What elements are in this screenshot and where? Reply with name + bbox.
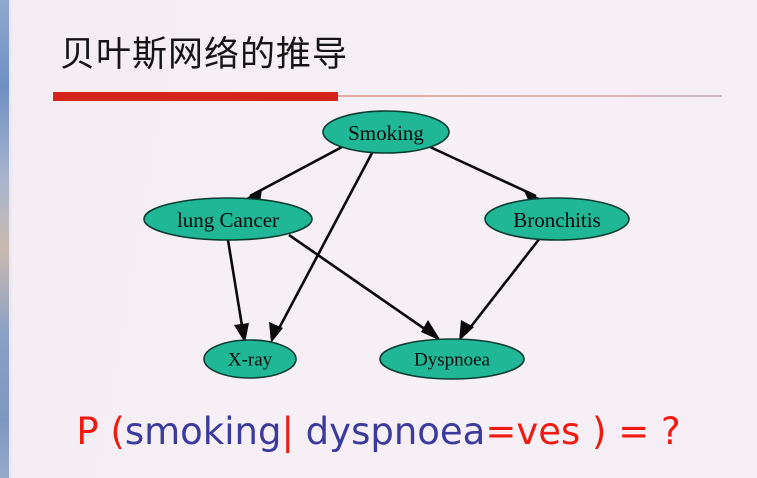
edge-smoking-to-lung-cancer <box>243 147 342 203</box>
query-formula: P (smoking| dyspnoea=ves ) = ? <box>0 406 757 458</box>
formula-evidence-var: dyspnoea <box>294 410 485 453</box>
node-lung-cancer-label: lung Cancer <box>177 208 279 232</box>
node-bronchitis[interactable]: Bronchitis <box>485 198 629 240</box>
edge-lung-cancer-to-dyspnoea <box>289 235 441 341</box>
node-smoking[interactable]: Smoking <box>323 111 449 153</box>
node-xray-label: X-ray <box>228 350 273 371</box>
node-xray[interactable]: X-ray <box>204 340 296 378</box>
node-dyspnoea-label: Dyspnoea <box>414 350 491 371</box>
formula-query-var: smoking <box>125 410 282 453</box>
node-lung-cancer[interactable]: lung Cancer <box>144 198 312 240</box>
node-bronchitis-label: Bronchitis <box>513 208 601 232</box>
formula-tail: =ves ) = ? <box>485 410 680 453</box>
formula-p-open: P ( <box>76 410 125 453</box>
slide-canvas: 贝叶斯网络的推导 <box>0 0 757 478</box>
edge-bronchitis-to-dyspnoea <box>459 238 540 341</box>
edge-smoking-to-bronchitis <box>430 147 544 204</box>
node-smoking-label: Smoking <box>348 121 424 145</box>
edge-lung-cancer-to-xray <box>228 240 249 343</box>
node-dyspnoea[interactable]: Dyspnoea <box>380 339 524 379</box>
formula-conditional-bar: | <box>281 410 293 453</box>
edge-smoking-to-xray <box>269 153 372 343</box>
